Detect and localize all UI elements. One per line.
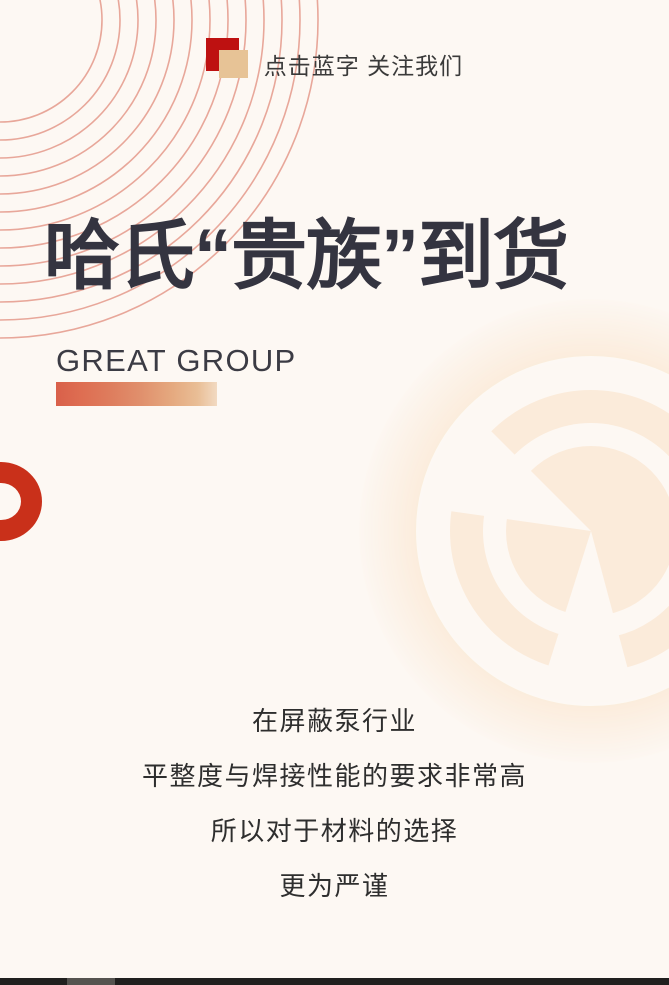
article-header: 点击蓝字 关注我们 (0, 38, 669, 80)
horizontal-scrollbar-thumb[interactable] (67, 978, 115, 985)
brand-subtitle: GREAT GROUP (56, 345, 297, 378)
body-line: 更为严谨 (0, 873, 669, 899)
page-title: 哈氏“贵族”到货 (44, 216, 644, 298)
accent-gradient-bar (56, 382, 217, 406)
bottom-bar (0, 978, 669, 985)
red-ring-decoration (0, 462, 42, 541)
body-line: 平整度与焊接性能的要求非常高 (0, 763, 669, 789)
subtitle-block: GREAT GROUP (56, 345, 297, 406)
brand-square-logo-icon (206, 38, 248, 80)
body-copy: 在屏蔽泵行业 平整度与焊接性能的要求非常高 所以对于材料的选择 更为严谨 (0, 708, 669, 899)
logo-tan-square (219, 50, 248, 78)
article-page: 点击蓝字 关注我们 哈氏“贵族”到货 GREAT GROUP 在屏蔽泵行业 平整… (0, 0, 669, 985)
body-line: 所以对于材料的选择 (0, 818, 669, 844)
faded-circle-watermark (356, 296, 669, 766)
body-line: 在屏蔽泵行业 (0, 708, 669, 734)
follow-prompt-label[interactable]: 点击蓝字 关注我们 (264, 55, 463, 80)
